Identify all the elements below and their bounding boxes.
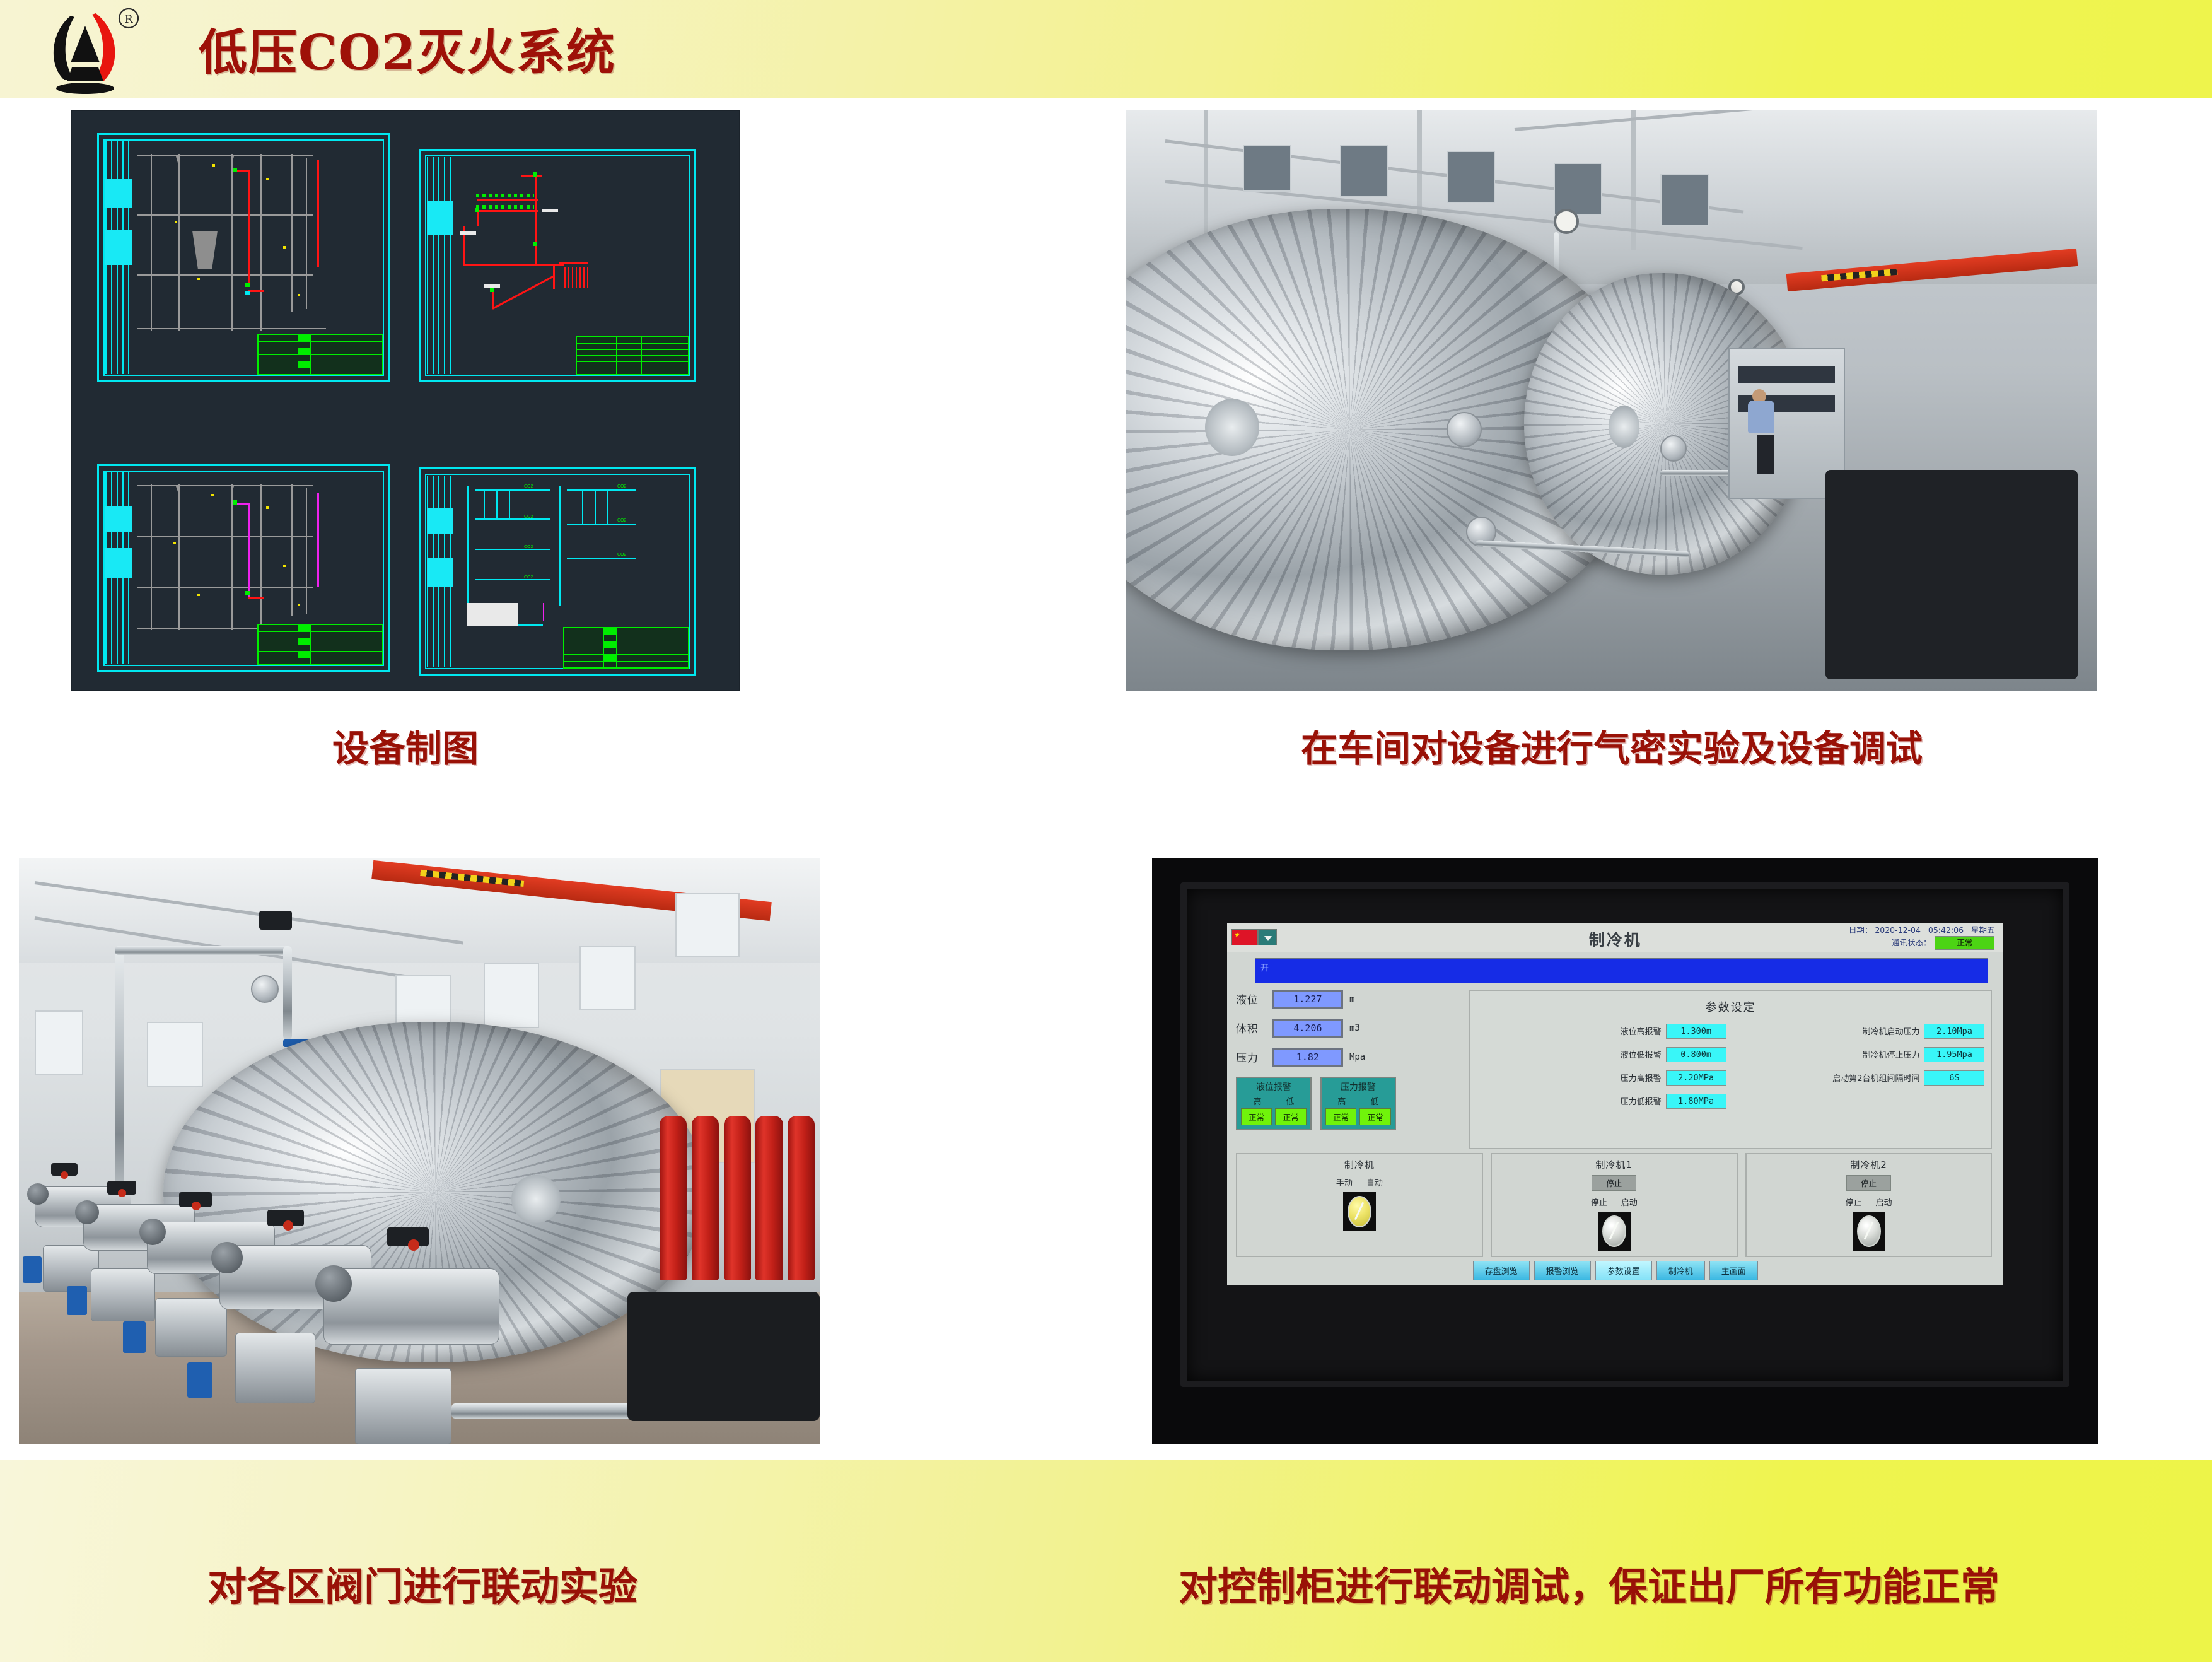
selector-knob-icon[interactable] — [1602, 1215, 1626, 1247]
control-card-chiller-1: 制冷机1 停止 停止 启动 — [1491, 1153, 1738, 1257]
control-mode-b: 启动 — [1621, 1196, 1638, 1208]
co2-cylinder — [724, 1116, 751, 1280]
hmi-screen-title: 制冷机 — [1227, 928, 2004, 951]
alarm-title: 压力报警 — [1325, 1080, 1391, 1093]
caption-cad-drawing: 设备制图 — [71, 719, 740, 772]
parameters-title: 参数设定 — [1477, 998, 1985, 1015]
param-row: 压力高报警 2.20MPa — [1477, 1070, 1726, 1086]
hmi-monitor-bezel: 制冷机 日期： 2020-12-04 05:42:06 星期五 通讯状态： — [1180, 882, 2069, 1387]
param-label: 压力低报警 — [1621, 1095, 1662, 1107]
alarm-high-label: 高 — [1253, 1095, 1261, 1107]
hmi-message-banner: 开 — [1255, 958, 1989, 983]
alarm-low-label: 低 — [1286, 1095, 1294, 1107]
control-mode-a: 停止 — [1591, 1196, 1607, 1208]
param-label: 制冷机停止压力 — [1862, 1048, 1919, 1060]
cad-sheet-plan-elevation-red — [97, 133, 390, 382]
alarm-card-level: 液位报警 高 低 正常 正常 — [1236, 1077, 1312, 1130]
photo-control-cabinet-hmi: 制冷机 日期： 2020-12-04 05:42:06 星期五 通讯状态： — [1152, 858, 2098, 1444]
cad-drawing-panel: CO2 CO2 CO2 CO2 CO2 CO2 CO2 — [71, 110, 740, 691]
hmi-nav-bar: 存盘浏览 报警浏览 参数设置 制冷机 主画面 — [1227, 1257, 2004, 1285]
page-header: R 低压CO2灭火系统 — [0, 0, 2212, 98]
spine-box — [427, 508, 453, 534]
measurement-row: 体积 4.206 m3 — [1236, 1019, 1463, 1038]
measurement-label: 压力 — [1236, 1049, 1272, 1065]
param-row: 液位高报警 1.300m — [1477, 1024, 1726, 1039]
param-value[interactable]: 1.95Mpa — [1924, 1047, 1984, 1062]
control-state-badge: 停止 — [1592, 1175, 1636, 1191]
co2-cylinder — [788, 1116, 815, 1280]
cad-title-block — [257, 334, 383, 375]
control-title: 制冷机 — [1344, 1158, 1375, 1171]
param-row: 制冷机启动压力 2.10Mpa — [1735, 1024, 1985, 1039]
nav-button-home[interactable]: 主画面 — [1709, 1261, 1758, 1280]
measurement-unit: m3 — [1349, 1023, 1360, 1033]
co2-cylinder — [692, 1116, 719, 1280]
param-row: 压力低报警 1.80MPa — [1477, 1094, 1726, 1109]
cad-sheet-control-wiring: CO2 CO2 CO2 CO2 CO2 CO2 CO2 — [419, 467, 696, 676]
caption-workshop-test: 在车间对设备进行气密实验及设备调试 — [1126, 719, 2097, 772]
param-row: 液位低报警 0.800m — [1477, 1047, 1726, 1062]
alarm-low-status: 正常 — [1359, 1108, 1391, 1125]
hmi-measurements-group: 液位 1.227 m 体积 4.206 m3 压力 1.82 Mpa — [1236, 990, 1463, 1149]
caption-control-cabinet-test: 对控制柜进行联动调试，保证出厂所有功能正常 — [1022, 1555, 2157, 1612]
param-value[interactable]: 2.10Mpa — [1924, 1024, 1984, 1039]
selector-knob-icon[interactable] — [1857, 1215, 1881, 1247]
measurement-row: 液位 1.227 m — [1236, 990, 1463, 1009]
selector-knob-wrap[interactable] — [1853, 1212, 1885, 1251]
control-card-chiller-2: 制冷机2 停止 停止 启动 — [1745, 1153, 1993, 1257]
pressure-gauge-icon — [1554, 209, 1579, 234]
alarm-title: 液位报警 — [1241, 1080, 1307, 1093]
cad-title-block — [257, 624, 383, 665]
page-title: 低压CO2灭火系统 — [199, 14, 616, 84]
nav-button-archive[interactable]: 存盘浏览 — [1473, 1261, 1530, 1280]
param-row: 制冷机停止压力 1.95Mpa — [1735, 1047, 1985, 1062]
photo-zone-valve-linkage-test — [19, 858, 820, 1444]
param-value[interactable]: 1.300m — [1666, 1024, 1726, 1039]
measurement-unit: Mpa — [1349, 1052, 1365, 1062]
spine-box — [105, 179, 132, 208]
control-state-badge: 停止 — [1846, 1175, 1891, 1191]
co2-cylinder — [660, 1116, 687, 1280]
control-mode-a: 手动 — [1336, 1176, 1353, 1188]
control-mode-b: 启动 — [1876, 1196, 1892, 1208]
nav-button-alarms[interactable]: 报警浏览 — [1534, 1261, 1591, 1280]
measurement-label: 体积 — [1236, 1020, 1272, 1036]
valve-actuator-head — [259, 911, 292, 930]
hmi-parameter-settings-group: 参数设定 液位高报警 1.300m 制冷机启动压力 2.10Mpa — [1469, 990, 1993, 1149]
spine-box — [427, 201, 453, 235]
sheet-spine — [427, 157, 453, 374]
param-label: 液位低报警 — [1621, 1048, 1662, 1060]
selector-knob-icon[interactable] — [1348, 1196, 1371, 1227]
svg-text:R: R — [125, 13, 134, 26]
control-title: 制冷机1 — [1595, 1158, 1633, 1171]
param-value[interactable]: 1.80MPa — [1666, 1094, 1726, 1109]
measurement-value: 4.206 — [1272, 1019, 1343, 1038]
cad-sheet-piping-schematic — [419, 149, 696, 382]
hmi-screen: 制冷机 日期： 2020-12-04 05:42:06 星期五 通讯状态： — [1227, 923, 2004, 1285]
spine-box — [105, 506, 132, 532]
spine-box — [105, 230, 132, 265]
param-label: 压力高报警 — [1621, 1072, 1662, 1084]
caption-valve-test: 对各区阀门进行联动实验 — [50, 1555, 795, 1612]
measurement-unit: m — [1349, 994, 1354, 1004]
alarm-high-status: 正常 — [1325, 1108, 1357, 1125]
spine-box — [105, 548, 132, 578]
company-logo: R — [19, 2, 164, 97]
flame-sail-logo-icon: R — [25, 4, 151, 96]
param-row: 启动第2台机组间隔时间 6S — [1735, 1070, 1985, 1086]
cad-title-block — [576, 336, 689, 375]
param-label: 启动第2台机组间隔时间 — [1832, 1072, 1919, 1084]
measurement-value: 1.227 — [1272, 990, 1343, 1009]
measurement-row: 压力 1.82 Mpa — [1236, 1048, 1463, 1067]
cad-title-block — [563, 627, 689, 669]
photo-workshop-pressure-test — [1126, 110, 2097, 691]
alarm-high-label: 高 — [1337, 1095, 1346, 1107]
co2-cylinder — [755, 1116, 783, 1280]
alarm-low-label: 低 — [1370, 1095, 1378, 1107]
param-value[interactable]: 0.800m — [1666, 1047, 1726, 1062]
spine-box — [427, 558, 453, 587]
alarm-low-status: 正常 — [1275, 1108, 1307, 1125]
measurement-label: 液位 — [1236, 991, 1272, 1007]
nav-button-parameters[interactable]: 参数设置 — [1595, 1261, 1652, 1280]
selector-knob-wrap[interactable] — [1598, 1212, 1631, 1251]
nav-button-chiller[interactable]: 制冷机 — [1656, 1261, 1705, 1280]
alarm-card-pressure: 压力报警 高 低 正常 正常 — [1320, 1077, 1396, 1130]
selector-knob-wrap[interactable] — [1343, 1192, 1376, 1231]
control-card-chiller-mode: 制冷机 手动 自动 — [1236, 1153, 1483, 1257]
hmi-header-bar: 制冷机 日期： 2020-12-04 05:42:06 星期五 通讯状态： — [1227, 923, 2004, 952]
param-value[interactable]: 2.20MPa — [1666, 1070, 1726, 1086]
control-title: 制冷机2 — [1850, 1158, 1887, 1171]
param-value[interactable]: 6S — [1924, 1070, 1984, 1086]
hmi-controls-row: 制冷机 手动 自动 制冷机1 停止 停止 — [1227, 1149, 2004, 1257]
alarm-high-status: 正常 — [1241, 1108, 1272, 1125]
param-label: 制冷机启动压力 — [1862, 1025, 1919, 1037]
control-mode-b: 自动 — [1366, 1176, 1383, 1188]
measurement-value: 1.82 — [1272, 1048, 1343, 1067]
cad-sheet-plan-elevation-magenta — [97, 464, 390, 672]
control-mode-a: 停止 — [1846, 1196, 1862, 1208]
param-label: 液位高报警 — [1621, 1025, 1662, 1037]
